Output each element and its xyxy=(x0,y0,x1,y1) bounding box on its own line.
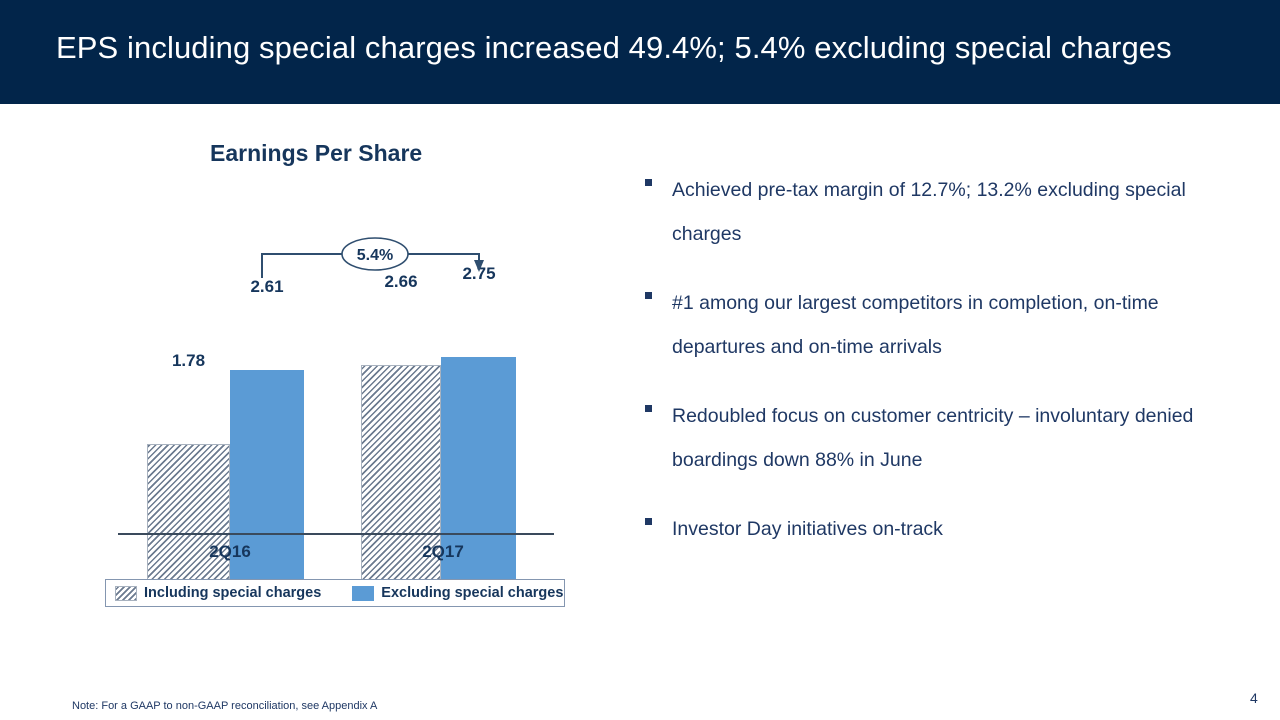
bar-label-2q16-excluding: 2.61 xyxy=(224,277,310,297)
list-item: Achieved pre-tax margin of 12.7%; 13.2% … xyxy=(645,168,1225,256)
legend-item-including[interactable]: Including special charges xyxy=(106,580,321,606)
square-bullet-icon xyxy=(645,405,652,412)
square-bullet-icon xyxy=(645,518,652,525)
list-item: Redoubled focus on customer centricity –… xyxy=(645,394,1225,482)
list-item-text: Achieved pre-tax margin of 12.7%; 13.2% … xyxy=(672,168,1225,256)
header-banner: EPS including special charges increased … xyxy=(0,0,1280,104)
footnote: Note: For a GAAP to non-GAAP reconciliat… xyxy=(72,700,377,712)
square-bullet-icon xyxy=(645,179,652,186)
square-bullet-icon xyxy=(645,292,652,299)
legend-swatch-hatched-icon xyxy=(115,586,137,601)
bar-2q17-excluding[interactable] xyxy=(441,357,516,604)
bar-label-2q17-excluding: 2.75 xyxy=(436,264,522,284)
legend-swatch-solid-icon xyxy=(352,586,374,601)
bar-label-2q17-including: 2.66 xyxy=(358,272,444,292)
slide-title: EPS including special charges increased … xyxy=(56,30,1246,66)
legend-item-excluding[interactable]: Excluding special charges xyxy=(343,580,563,606)
list-item: Investor Day initiatives on-track xyxy=(645,507,1225,551)
category-label-2q17: 2Q17 xyxy=(398,542,488,562)
bar-2q17-including[interactable] xyxy=(361,365,441,604)
list-item-text: #1 among our largest competitors in comp… xyxy=(672,281,1225,369)
highlights-list: Achieved pre-tax margin of 12.7%; 13.2% … xyxy=(645,168,1225,576)
page-number: 4 xyxy=(1250,690,1258,706)
category-label-2q16: 2Q16 xyxy=(185,542,275,562)
list-item: #1 among our largest competitors in comp… xyxy=(645,281,1225,369)
legend-label-excluding: Excluding special charges xyxy=(381,585,563,601)
bar-chart-plot: 1.78 2.61 2.66 2.75 2Q16 2Q17 xyxy=(0,104,620,604)
legend-label-including: Including special charges xyxy=(144,585,321,601)
bar-2q16-excluding[interactable] xyxy=(230,370,304,604)
chart-axis-line xyxy=(118,533,554,535)
bar-label-2q16-including: 1.78 xyxy=(147,351,230,371)
list-item-text: Redoubled focus on customer centricity –… xyxy=(672,394,1225,482)
chart-legend: Including special charges Excluding spec… xyxy=(105,579,565,607)
chart-panel: Earnings Per Share 1.78 2.61 2.66 2.75 2… xyxy=(0,104,620,644)
list-item-text: Investor Day initiatives on-track xyxy=(672,507,943,551)
